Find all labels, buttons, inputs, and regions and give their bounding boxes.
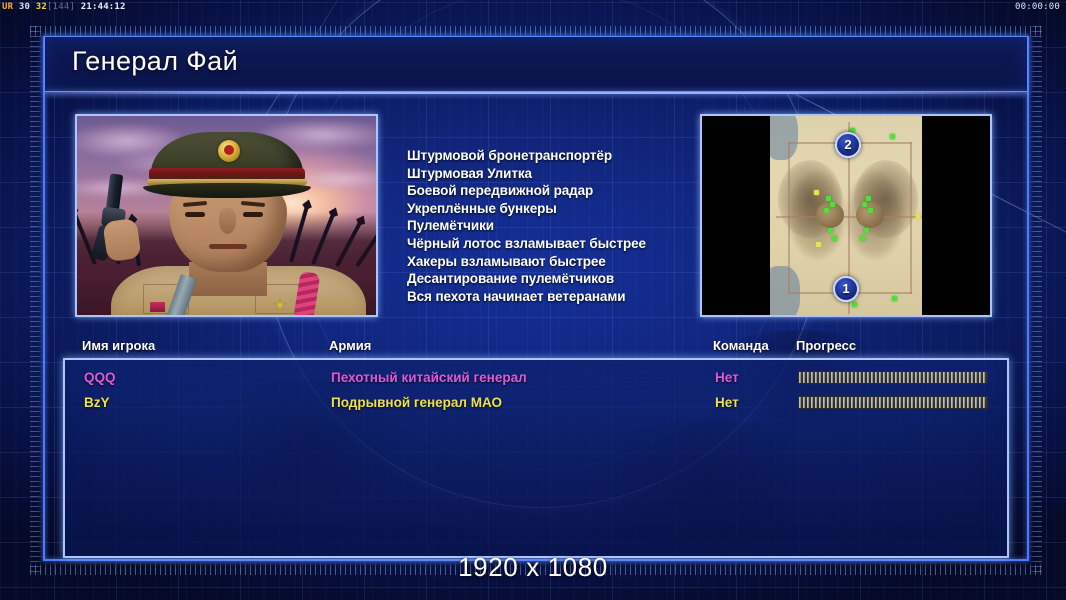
title-panel: Генерал Фай <box>44 36 1028 92</box>
eye-left <box>185 212 205 217</box>
column-header-progress: Прогресс <box>796 338 856 353</box>
ability-item: Штурмовой бронетранспортёр <box>407 147 693 165</box>
map-unit-marker <box>828 228 833 233</box>
frame-ruler-left <box>30 26 43 575</box>
players-table-panel: QQQ Пехотный китайский генерал Нет BzY П… <box>63 358 1009 558</box>
player-progress-fill <box>799 397 987 408</box>
map-unit-marker <box>830 202 835 207</box>
frame-edge-left <box>43 36 45 560</box>
map-resource-marker <box>814 190 819 195</box>
player-progress-fill <box>799 372 987 383</box>
player-name: QQQ <box>84 370 116 385</box>
map-unit-marker <box>868 208 873 213</box>
portrait-image <box>77 116 376 315</box>
game-timer: 00:00:00 <box>1015 0 1060 14</box>
player-team: Нет <box>715 395 739 410</box>
nose <box>219 208 236 234</box>
cap-emblem <box>218 140 240 162</box>
debug-fps-alt: 32 <box>36 2 47 12</box>
ability-item: Штурмовая Улитка <box>407 165 693 183</box>
debug-status-left: UR 30 32[144] 21:44:12 <box>2 0 126 14</box>
table-row[interactable]: BzY Подрывной генерал МАО Нет <box>65 393 1011 417</box>
ability-item: Боевой передвижной радар <box>407 182 693 200</box>
general-info-row: Штурмовой бронетранспортёр Штурмовая Ули… <box>63 108 1009 332</box>
table-row[interactable]: QQQ Пехотный китайский генерал Нет <box>65 368 1011 392</box>
map-start-position-1[interactable]: 1 <box>833 276 859 302</box>
eye-right <box>243 212 263 217</box>
debug-status-bar: UR 30 32[144] 21:44:12 00:00:00 <box>0 0 1066 14</box>
map-letterbox-right <box>922 116 990 315</box>
ability-item: Десантирование пулемётчиков <box>407 270 693 288</box>
map-unit-marker <box>866 196 871 201</box>
player-progress-bar <box>798 396 988 409</box>
general-abilities-list: Штурмовой бронетранспортёр Штурмовая Ули… <box>407 147 693 305</box>
general-abilities-panel: Штурмовой бронетранспортёр Штурмовая Ули… <box>393 114 693 317</box>
debug-ur-label: UR <box>2 2 13 12</box>
map-letterbox-left <box>702 116 770 315</box>
mouth <box>209 244 247 249</box>
hand <box>102 218 141 262</box>
column-header-army: Армия <box>329 338 371 353</box>
frame-edge-right <box>1027 36 1029 560</box>
ability-item: Пулемётчики <box>407 217 693 235</box>
player-army: Пехотный китайский генерал <box>331 370 527 385</box>
map-resource-marker <box>916 214 921 219</box>
map-unit-marker <box>864 228 869 233</box>
medal-ribbon <box>150 302 165 312</box>
column-header-team: Команда <box>713 338 769 353</box>
map-start-position-2[interactable]: 2 <box>835 132 861 158</box>
map-unit-marker <box>852 302 857 307</box>
map-road <box>910 142 912 294</box>
debug-clock: 21:44:12 <box>81 2 126 12</box>
ability-item: Хакеры взламывают быстрее <box>407 253 693 271</box>
ability-item: Вся пехота начинает ветеранами <box>407 288 693 306</box>
debug-fps: 30 <box>19 2 30 12</box>
map-unit-marker <box>832 236 837 241</box>
player-name: BzY <box>84 395 110 410</box>
map-resource-marker <box>816 242 821 247</box>
frame-ruler-right <box>1029 26 1042 575</box>
map-unit-marker <box>860 236 865 241</box>
player-progress-bar <box>798 371 988 384</box>
map-unit-marker <box>892 296 897 301</box>
resolution-label: 1920 x 1080 <box>0 552 1066 583</box>
player-team: Нет <box>715 370 739 385</box>
column-header-name: Имя игрока <box>82 338 155 353</box>
game-screen: UR 30 32[144] 21:44:12 00:00:00 Генерал … <box>0 0 1066 600</box>
ability-item: Чёрный лотос взламывает быстрее <box>407 235 693 253</box>
map-road <box>776 216 924 218</box>
map-unit-marker <box>890 134 895 139</box>
map-preview[interactable]: 2 1 <box>700 114 992 317</box>
page-title: Генерал Фай <box>72 46 238 77</box>
debug-bracket-value: [144] <box>47 2 75 12</box>
map-unit-marker <box>826 196 831 201</box>
player-army: Подрывной генерал МАО <box>331 395 502 410</box>
ability-item: Укреплённые бункеры <box>407 200 693 218</box>
map-unit-marker <box>824 208 829 213</box>
map-road <box>788 142 790 294</box>
players-table-header: Имя игрока Армия Команда Прогресс <box>63 338 1009 358</box>
map-crater <box>856 202 884 228</box>
general-portrait <box>75 114 378 317</box>
map-unit-marker <box>862 202 867 207</box>
